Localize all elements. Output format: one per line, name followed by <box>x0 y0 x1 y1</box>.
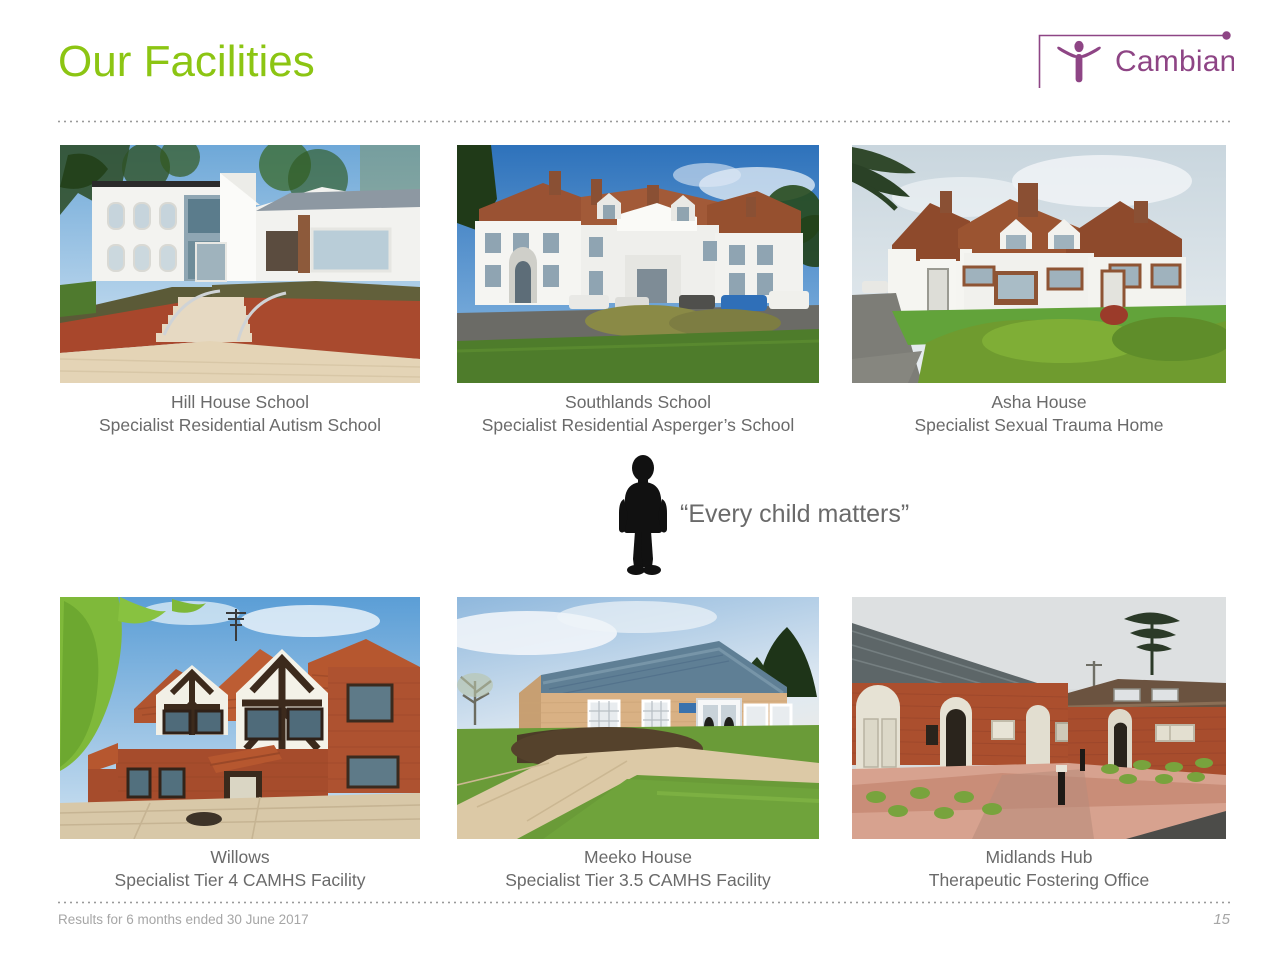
motto-quote: “Every child matters” <box>680 498 909 530</box>
footer-divider <box>56 901 1230 904</box>
facility-name: Hill House School <box>60 391 420 414</box>
facility-photo-southlands-school <box>457 145 819 383</box>
slide-canvas: Our Facilities Cambian <box>0 0 1280 960</box>
facility-photo-midlands-hub <box>852 597 1226 839</box>
facility-photo-asha-house <box>852 145 1226 383</box>
facility-caption: Southlands School Specialist Residential… <box>457 391 819 437</box>
facility-description: Specialist Residential Asperger’s School <box>457 414 819 437</box>
facility-name: Southlands School <box>457 391 819 414</box>
facility-description: Specialist Tier 4 CAMHS Facility <box>60 869 420 892</box>
motto-block: “Every child matters” <box>612 455 1032 580</box>
facility-caption: Midlands Hub Therapeutic Fostering Offic… <box>852 846 1226 892</box>
facility-name: Willows <box>60 846 420 869</box>
facility-photo-meeko-house <box>457 597 819 839</box>
facility-caption: Meeko House Specialist Tier 3.5 CAMHS Fa… <box>457 846 819 892</box>
facility-photo-willows <box>60 597 420 839</box>
facility-name: Midlands Hub <box>852 846 1226 869</box>
child-silhouette-icon <box>612 455 674 577</box>
facility-name: Asha House <box>852 391 1226 414</box>
facility-description: Specialist Residential Autism School <box>60 414 420 437</box>
facility-description: Specialist Tier 3.5 CAMHS Facility <box>457 869 819 892</box>
facility-description: Specialist Sexual Trauma Home <box>852 414 1226 437</box>
facility-name: Meeko House <box>457 846 819 869</box>
page-number: 15 <box>1196 911 1230 929</box>
facility-caption: Willows Specialist Tier 4 CAMHS Facility <box>60 846 420 892</box>
footer-note: Results for 6 months ended 30 June 2017 <box>58 911 309 929</box>
facility-photo-hill-house-school <box>60 145 420 383</box>
facility-caption: Asha House Specialist Sexual Trauma Home <box>852 391 1226 437</box>
facility-description: Therapeutic Fostering Office <box>852 869 1226 892</box>
facility-caption: Hill House School Specialist Residential… <box>60 391 420 437</box>
